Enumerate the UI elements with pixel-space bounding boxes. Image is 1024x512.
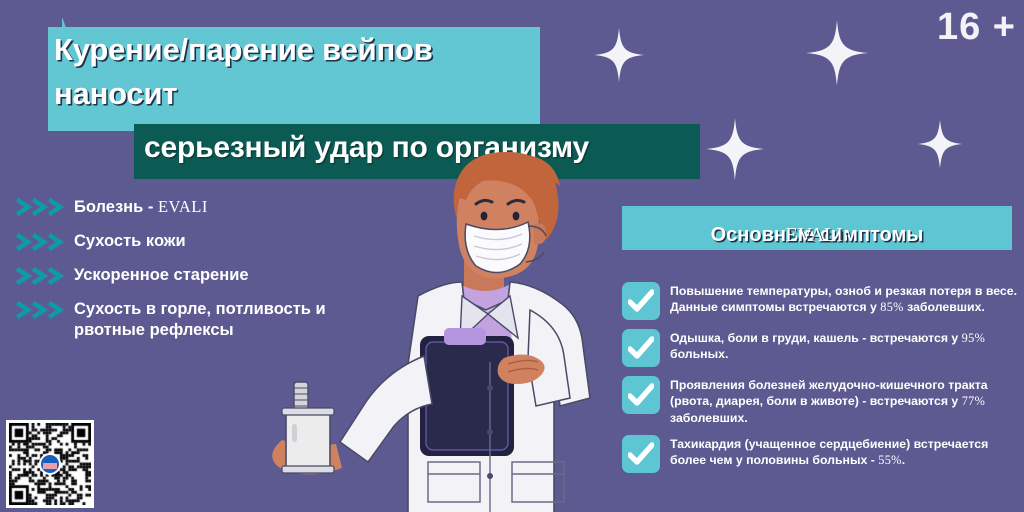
chevrons-right-icon [16,265,74,285]
symptom-percentage: 95% [962,331,985,345]
chevrons-right-icon [16,299,74,319]
list-item: Повышение температуры, озноб и резкая по… [622,282,1020,320]
check-icon [622,329,660,367]
page-title: Курение/парение вейпов наносит [54,28,694,116]
symptoms-panel-header: Основные симптомы EVALI: [622,206,1012,250]
list-item: Проявления болезней желудочно-кишечного … [622,376,1020,426]
list-item: Тахикардия (учащенное сердцебиение) встр… [622,435,1020,473]
check-icon [622,376,660,414]
symptoms-list: Повышение температуры, озноб и резкая по… [622,282,1020,482]
list-item-label: Ускоренное старение [74,265,249,286]
age-rating-badge: 16 + [937,6,1016,49]
vape-device [282,382,334,473]
chevrons-right-icon [16,196,74,216]
qr-center-logo [39,453,61,475]
symptom-text: Проявления болезней желудочно-кишечного … [670,376,1020,426]
symptom-text: Тахикардия (учащенное сердцебиение) встр… [670,435,1020,469]
list-item-label: Сухость кожи [74,231,186,252]
symptom-text: Одышка, боли в груди, кашель - встречают… [670,329,1020,363]
evali-term: EVALI [158,197,208,216]
qr-code[interactable] [6,420,94,508]
check-icon [622,435,660,473]
symptom-text: Повышение температуры, озноб и резкая по… [670,282,1020,316]
title-line-1: Курение/парение вейпов [54,32,433,67]
poster: Курение/парение вейпов наносит серьезный… [0,0,1024,512]
symptom-percentage: 85% [880,300,903,314]
check-icon [622,282,660,320]
title-line-2: наносит [54,76,177,111]
symptom-percentage: 55% [878,453,901,467]
sparkle-icon [918,120,962,168]
symptom-percentage: 77% [962,394,985,408]
list-item-label: Болезнь - EVALI [74,196,208,218]
sparkle-icon [806,20,868,86]
list-item: Одышка, боли в груди, кашель - встречают… [622,329,1020,367]
doctor-illustration [268,150,628,512]
evali-term: EVALI: [622,224,1012,247]
chevrons-right-icon [16,231,74,251]
